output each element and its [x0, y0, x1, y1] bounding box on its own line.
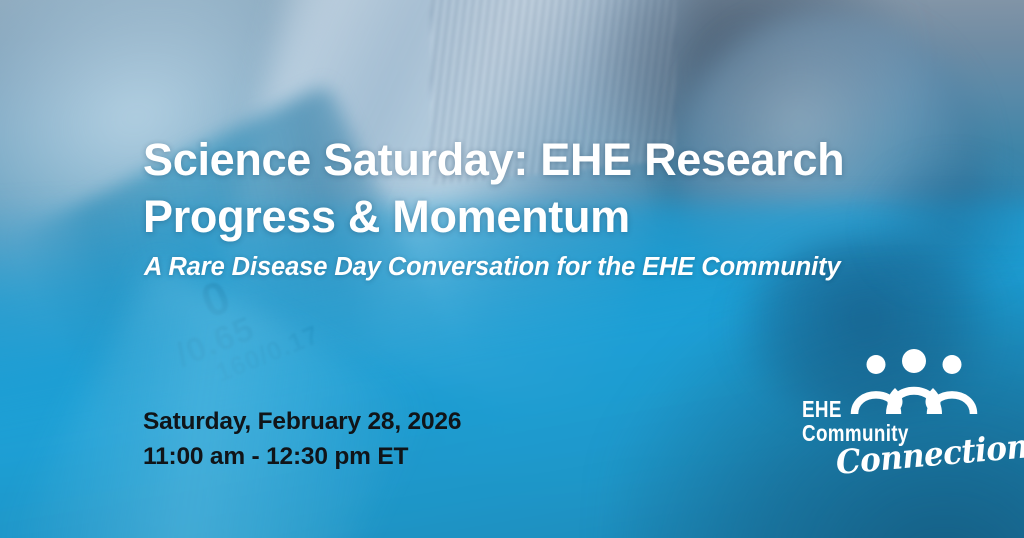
banner-content: Science Saturday: EHE Research Progress … — [0, 0, 1024, 538]
event-title: Science Saturday: EHE Research Progress … — [143, 131, 903, 245]
logo-line-ehe: EHE — [802, 398, 909, 422]
event-datetime: Saturday, February 28, 2026 11:00 am - 1… — [143, 405, 461, 475]
event-subtitle: A Rare Disease Day Conversation for the … — [144, 253, 934, 282]
logo: EHE Community Connections — [798, 348, 984, 486]
event-banner: 0 /0.65 160/0.17 Science Saturday: EHE R… — [0, 0, 1024, 538]
